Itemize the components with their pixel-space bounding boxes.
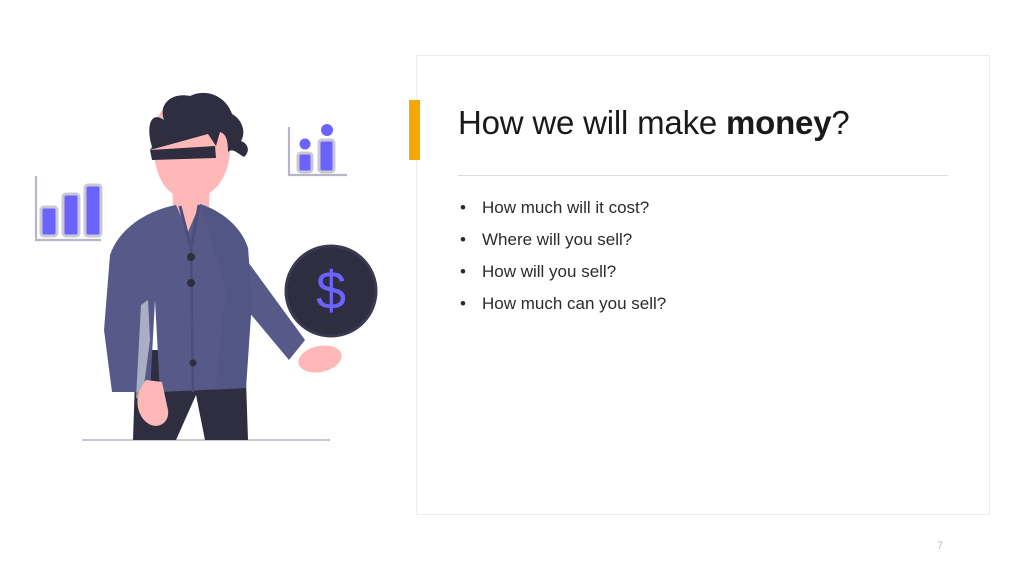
list-item-label: How much can you sell? (482, 294, 666, 313)
accent-bar (409, 100, 420, 160)
bullet-glyph: • (460, 256, 466, 288)
bullet-glyph: • (460, 192, 466, 224)
title-divider (458, 175, 948, 176)
bar-chart-ascending-icon (36, 176, 101, 240)
svg-text:$: $ (316, 261, 346, 321)
page-title: How we will make money? (458, 103, 850, 143)
page-number: 7 (928, 540, 952, 552)
shirt-button (187, 253, 195, 261)
dollar-coin-icon: $ (286, 246, 376, 336)
list-item: • How will you sell? (458, 256, 948, 288)
list-item: • Where will you sell? (458, 224, 948, 256)
bullet-glyph: • (460, 288, 466, 320)
list-item-label: Where will you sell? (482, 230, 632, 249)
list-item: • How much will it cost? (458, 192, 948, 224)
person-right-hand (296, 342, 344, 377)
shirt-button (190, 360, 197, 367)
title-suffix: ? (831, 104, 849, 141)
list-item: • How much can you sell? (458, 288, 948, 320)
bullet-list: • How much will it cost? • Where will yo… (458, 192, 948, 320)
slide-root: $ (0, 0, 1024, 576)
bar-chart-with-dots-icon (289, 124, 347, 175)
title-prefix: How we will make (458, 104, 726, 141)
list-item-label: How much will it cost? (482, 198, 649, 217)
bullet-glyph: • (460, 224, 466, 256)
shirt-button (187, 279, 195, 287)
illustration-businessman-charts: $ (0, 0, 400, 500)
title-emphasis: money (726, 104, 831, 141)
list-item-label: How will you sell? (482, 262, 616, 281)
